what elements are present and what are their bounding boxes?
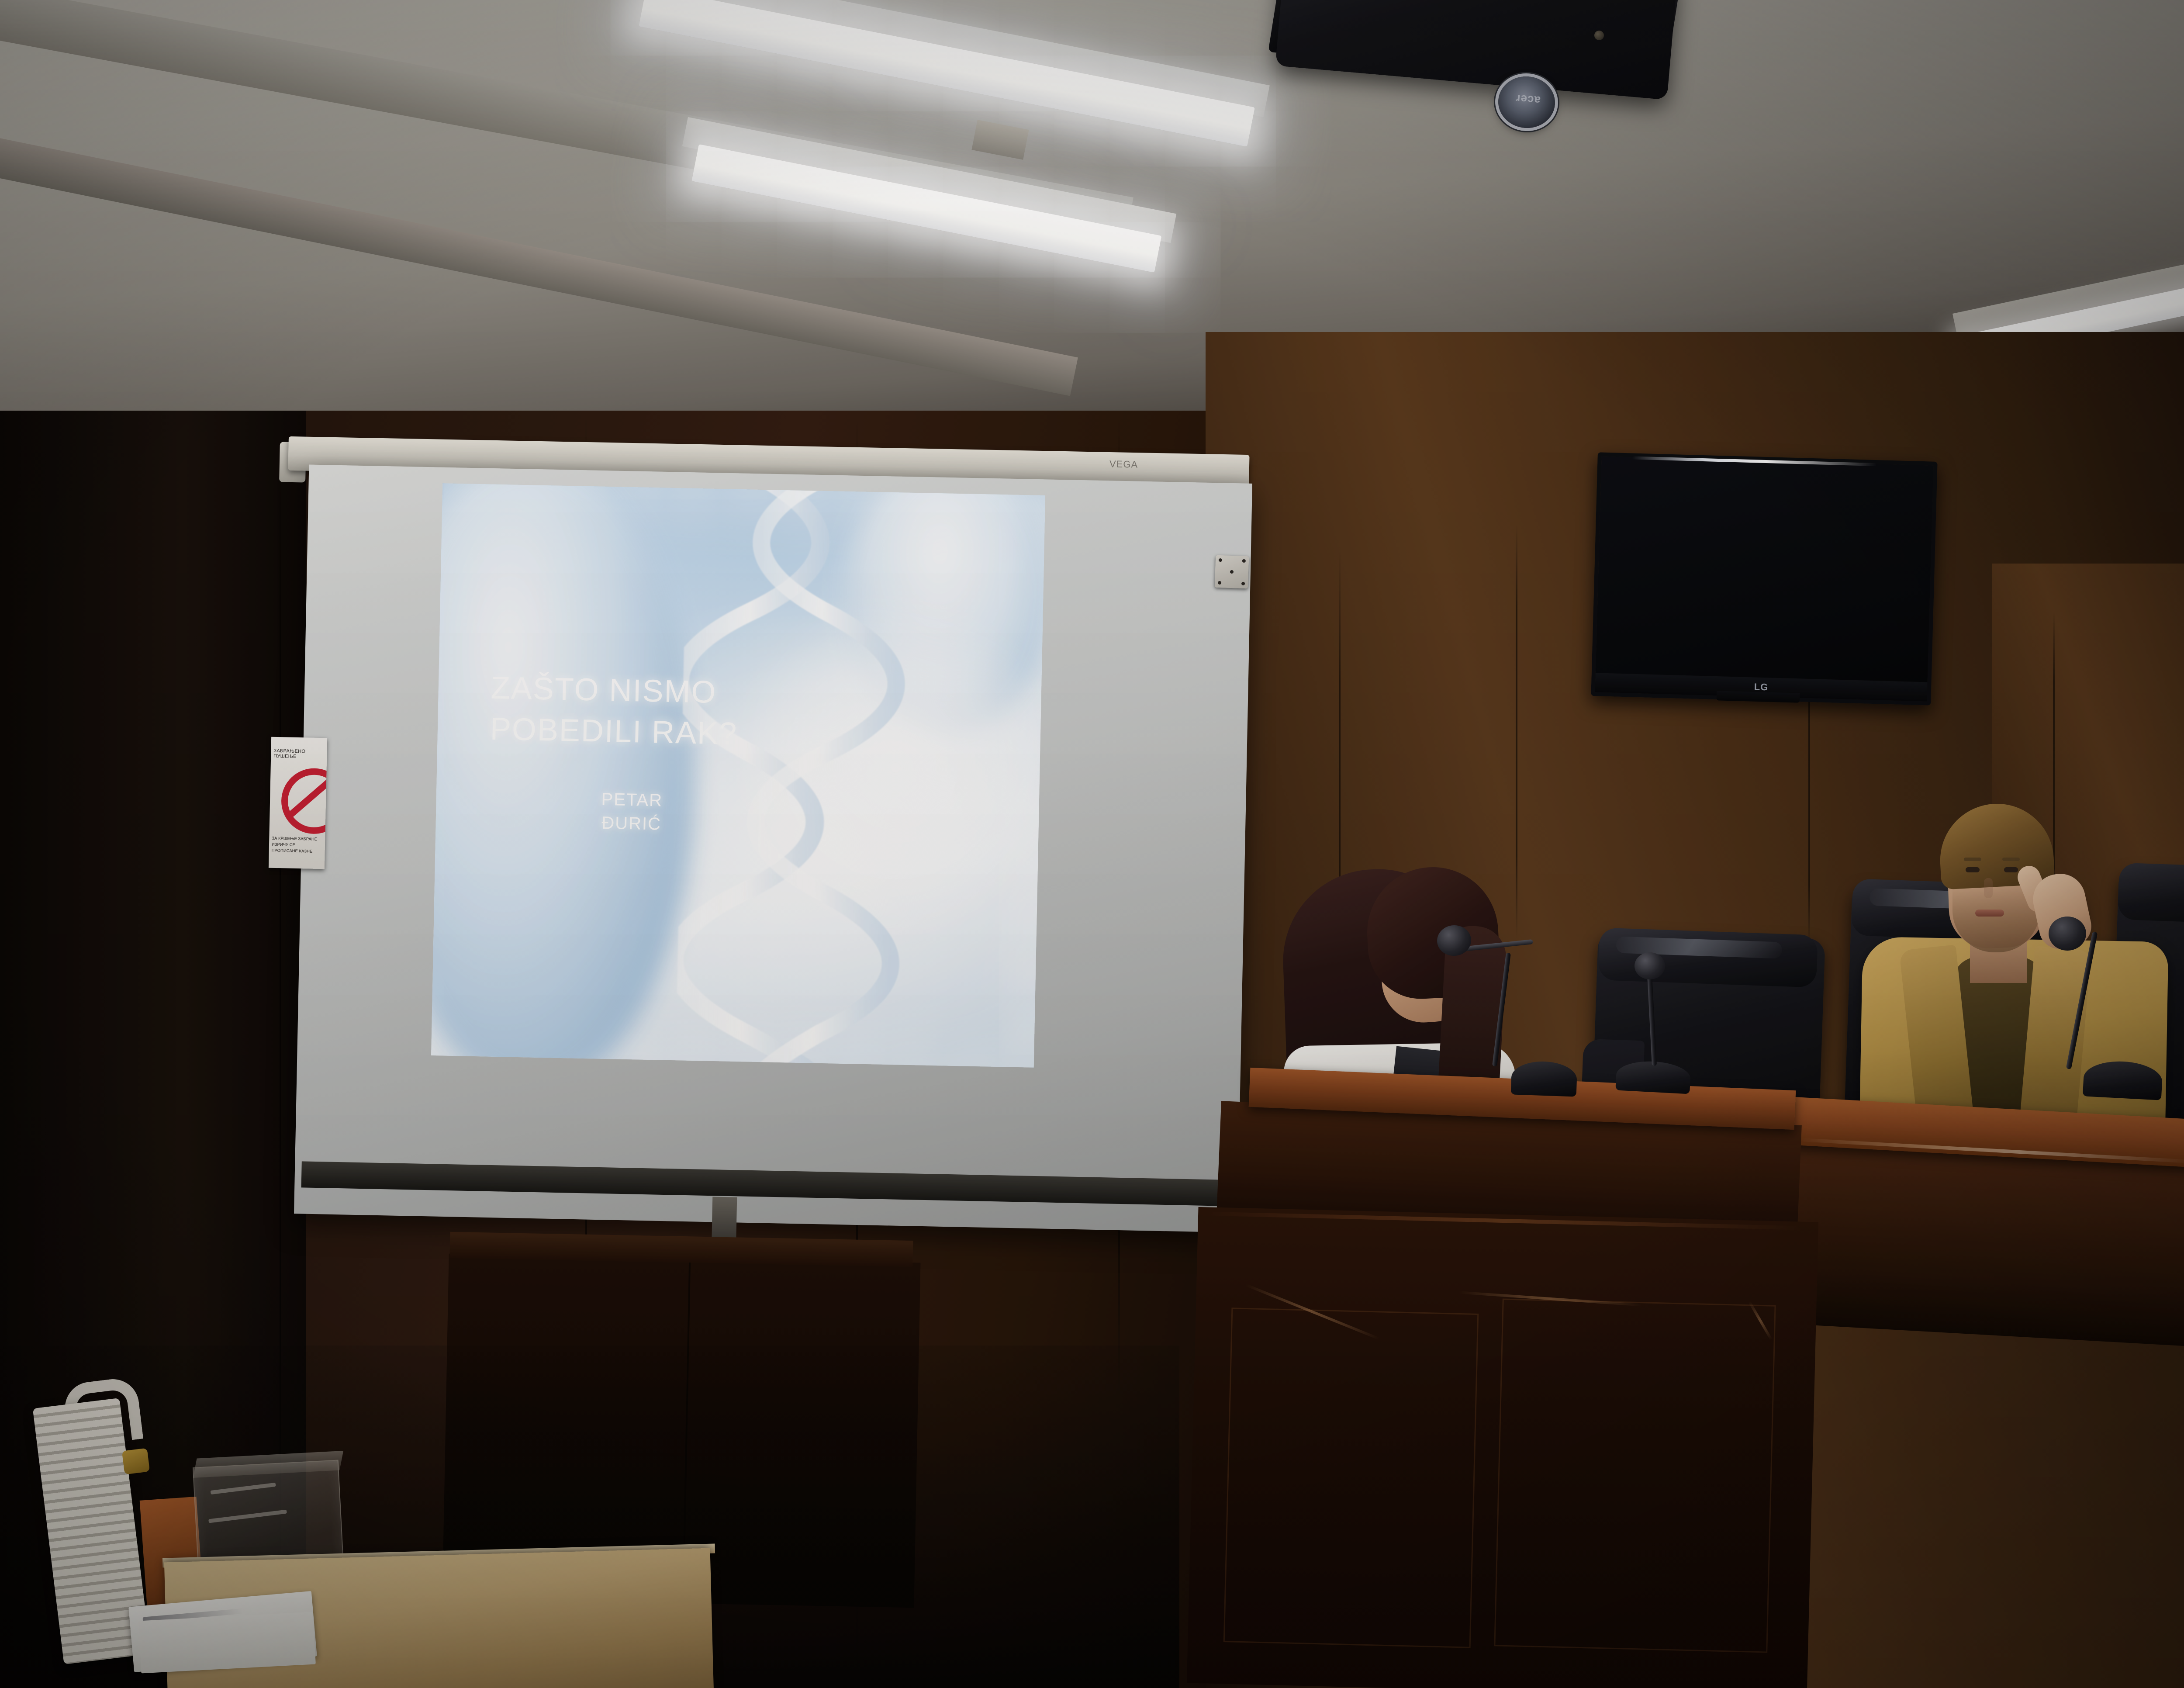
projected-slide: ZAŠTO NISMO POBEDILI RAK? PETAR ĐURIĆ xyxy=(431,483,1045,1067)
screw-icon xyxy=(1218,581,1221,585)
screw-icon xyxy=(1219,558,1222,562)
acrylic-box-slot xyxy=(208,1510,287,1523)
panelist-mouth xyxy=(1975,910,2004,917)
no-smoking-sign-footer: ЗА КРШЕЊЕ ЗАБРАНЕ ИЗРИЧУ СЕ ПРОПИСАНЕ КА… xyxy=(272,836,324,855)
television-brand-label: LG xyxy=(1754,681,1768,693)
panelist-nose xyxy=(1984,878,1993,898)
document-sheet[interactable] xyxy=(138,1612,316,1674)
panelist-eyebrow xyxy=(2002,858,2020,861)
slide-author: PETAR ĐURIĆ xyxy=(539,787,724,837)
conference-room-photo: acer VEGA xyxy=(0,0,2184,1688)
panelist-microphone-head-icon xyxy=(2049,917,2086,951)
screen-brand-label: VEGA xyxy=(1109,458,1138,470)
wall-junction-box xyxy=(1215,555,1249,589)
panelist-eye xyxy=(2004,867,2018,872)
wall-panel-seam xyxy=(1516,524,1517,939)
dna-helix-icon xyxy=(675,483,915,1067)
slide-title: ZAŠTO NISMO POBEDILI RAK? xyxy=(490,668,797,756)
panelist-eye xyxy=(1966,867,1980,872)
panel-desk-front xyxy=(1782,1140,2184,1350)
slide-cell-shape xyxy=(431,483,701,1067)
television-screen xyxy=(1595,456,1934,701)
no-smoking-sign-heading: ЗАБРАЊЕНО ПУШЕЊЕ xyxy=(273,748,326,760)
chair-headrest xyxy=(2118,863,2184,924)
wall-mounted-television: LG xyxy=(1591,452,1937,706)
desk-microphone-head-icon xyxy=(1635,952,1665,979)
no-smoking-sign: ЗАБРАЊЕНО ПУШЕЊЕ ЗА КРШЕЊЕ ЗАБРАНЕ ИЗРИЧ… xyxy=(269,737,327,869)
podium-panel-moulding xyxy=(1223,1308,1479,1648)
projector-mount-screw-icon xyxy=(1594,31,1604,40)
screw-icon xyxy=(1241,582,1245,585)
screw-icon xyxy=(1242,559,1246,563)
screw-icon xyxy=(1230,570,1234,574)
acrylic-box-slot xyxy=(211,1483,276,1494)
podium-panel-moulding xyxy=(1494,1298,1776,1653)
radiator-valve[interactable] xyxy=(122,1448,150,1475)
panelist-eyebrow xyxy=(1964,858,1981,861)
